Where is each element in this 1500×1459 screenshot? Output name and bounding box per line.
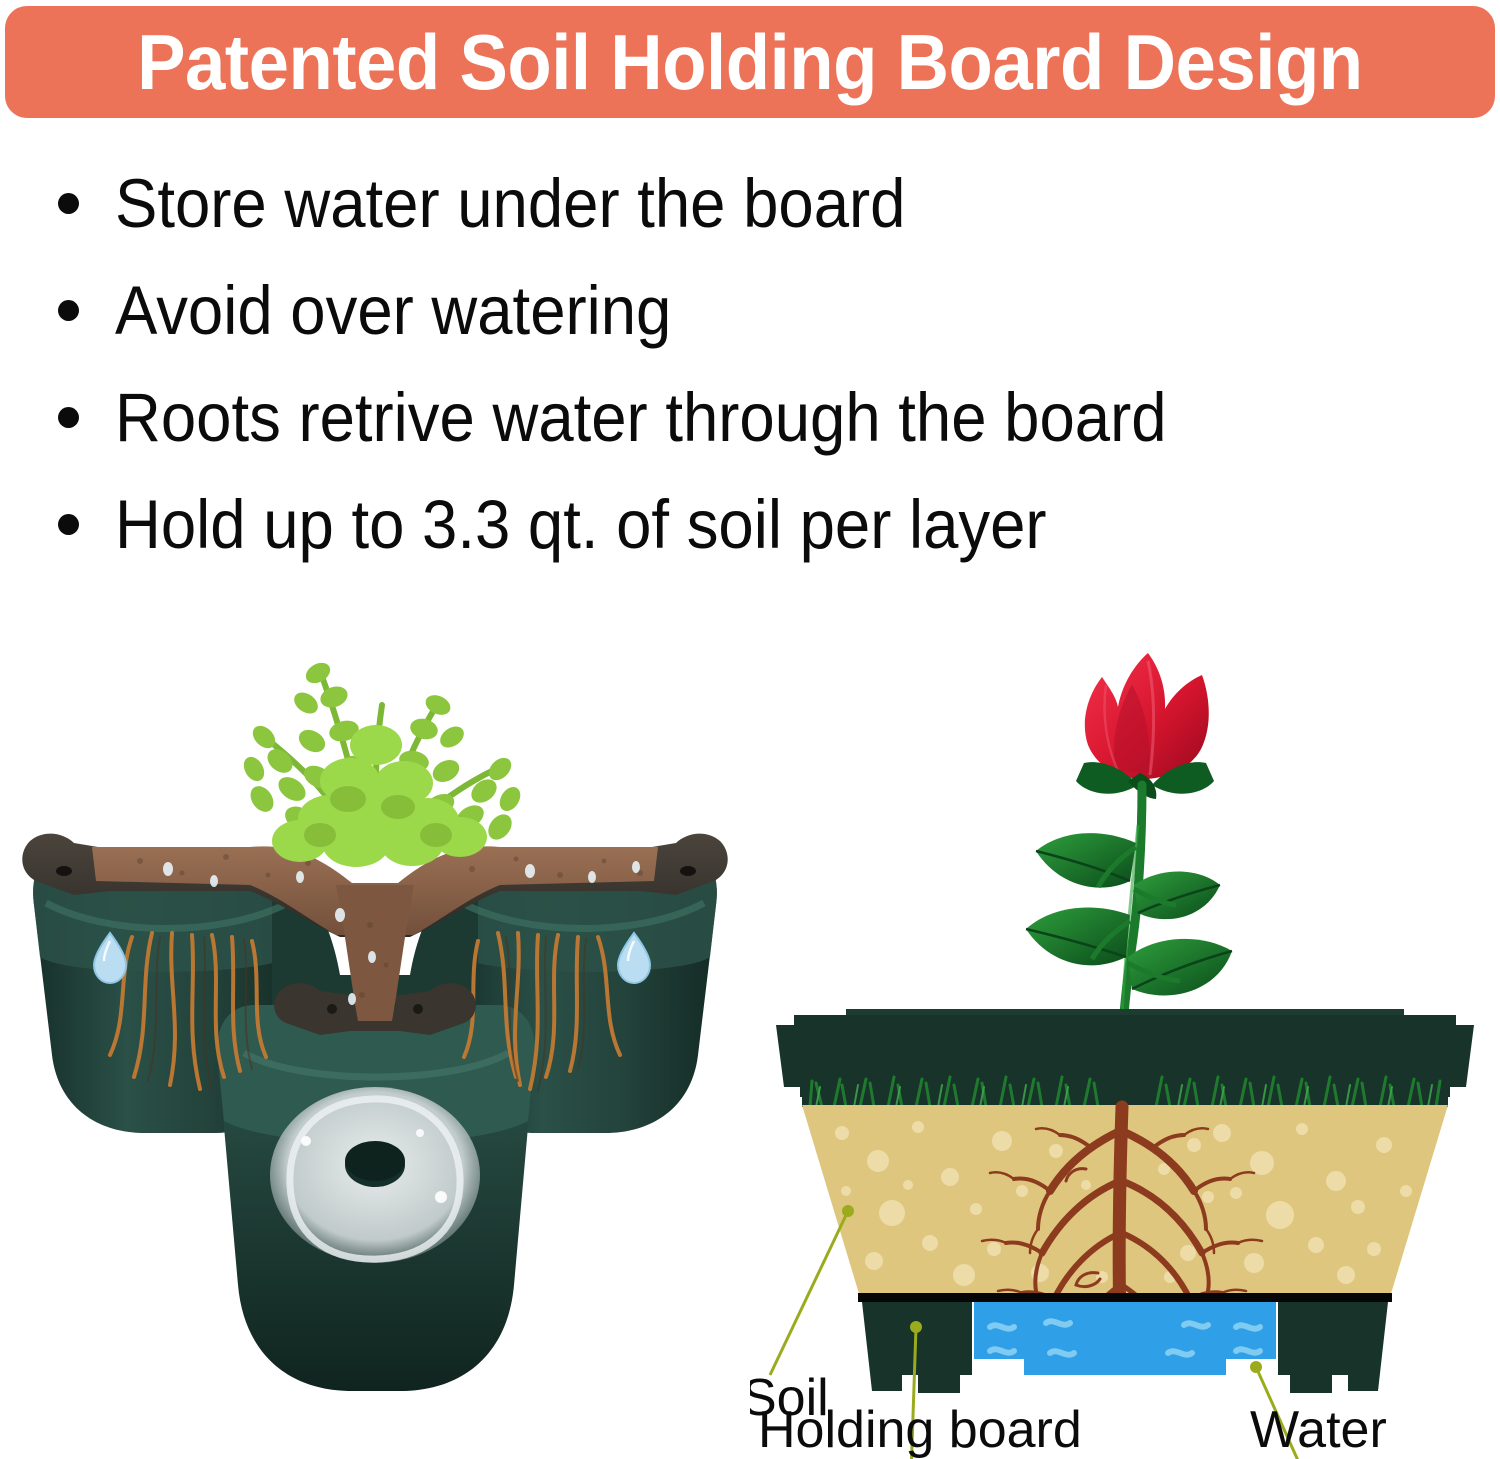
water-splash bbox=[270, 1087, 480, 1263]
product-photo-stackable-planter bbox=[0, 585, 750, 1459]
list-item-label: Roots retrive water through the board bbox=[115, 381, 1167, 455]
list-item-label: Avoid over watering bbox=[115, 274, 671, 348]
feature-bullet-list: Store water under the board Avoid over w… bbox=[0, 150, 1500, 578]
water-reservoir bbox=[974, 1302, 1276, 1375]
label-water: Water bbox=[1250, 1401, 1387, 1459]
bullet-dot-icon bbox=[58, 514, 79, 535]
holding-board bbox=[858, 1293, 1392, 1302]
page-title: Patented Soil Holding Board Design bbox=[137, 22, 1363, 102]
bullet-dot-icon bbox=[58, 407, 79, 428]
pot-rim bbox=[776, 1009, 1474, 1097]
list-item-label: Hold up to 3.3 qt. of soil per layer bbox=[115, 488, 1047, 562]
label-holding-board: Holding board bbox=[758, 1401, 1082, 1459]
plant-foliage bbox=[240, 659, 525, 867]
list-item: Roots retrive water through the board bbox=[0, 364, 1500, 471]
list-item-label: Store water under the board bbox=[115, 167, 905, 241]
bullet-dot-icon bbox=[58, 300, 79, 321]
figures-row: Soil Holding board Water bbox=[0, 585, 1500, 1459]
rose-flower-icon bbox=[1076, 653, 1214, 799]
header-banner: Patented Soil Holding Board Design bbox=[5, 6, 1495, 118]
bullet-dot-icon bbox=[58, 193, 79, 214]
cross-section-diagram: Soil Holding board Water bbox=[750, 585, 1500, 1459]
list-item: Hold up to 3.3 qt. of soil per layer bbox=[0, 471, 1500, 578]
list-item: Store water under the board bbox=[0, 150, 1500, 257]
list-item: Avoid over watering bbox=[0, 257, 1500, 364]
